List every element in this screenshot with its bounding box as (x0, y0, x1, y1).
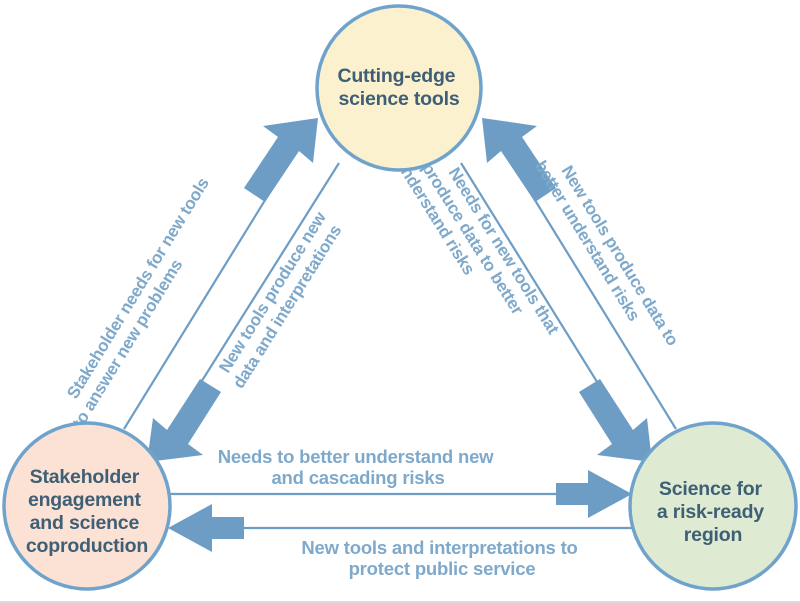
edge-left-down-label: New tools produce new data and interpret… (212, 205, 349, 392)
diagram-canvas: Stakeholder needs for new tools to answe… (0, 0, 800, 603)
diagram-root: Stakeholder needs for new tools to answe… (0, 0, 800, 603)
edge-left-up-arrowhead (244, 118, 318, 202)
edge-right-down-arrowhead (579, 379, 652, 462)
edge-bottom-right-arrowhead (556, 470, 632, 518)
node-stakeholder-engagement-and-science-coproduction[interactable]: Stakeholder engagement and science copro… (4, 423, 170, 589)
node-science-for-a-risk-ready-region[interactable]: Science for a risk-ready region (630, 423, 796, 589)
node-left-label: Stakeholder engagement and science copro… (26, 466, 148, 557)
edge-bottom-left[interactable]: New tools and interpretations to protect… (168, 504, 632, 579)
node-top-label: Cutting-edge science tools (337, 65, 460, 110)
edge-left-down-arrowhead (147, 379, 221, 462)
edge-bottom-right[interactable]: Needs to better understand new and casca… (168, 446, 632, 518)
edge-bottom-left-label: New tools and interpretations to protect… (301, 537, 582, 579)
node-cutting-edge-science-tools[interactable]: Cutting-edge science tools (317, 6, 481, 170)
edge-bottom-left-arrowhead (168, 504, 244, 552)
edge-bottom-right-label: Needs to better understand new and casca… (218, 446, 499, 488)
